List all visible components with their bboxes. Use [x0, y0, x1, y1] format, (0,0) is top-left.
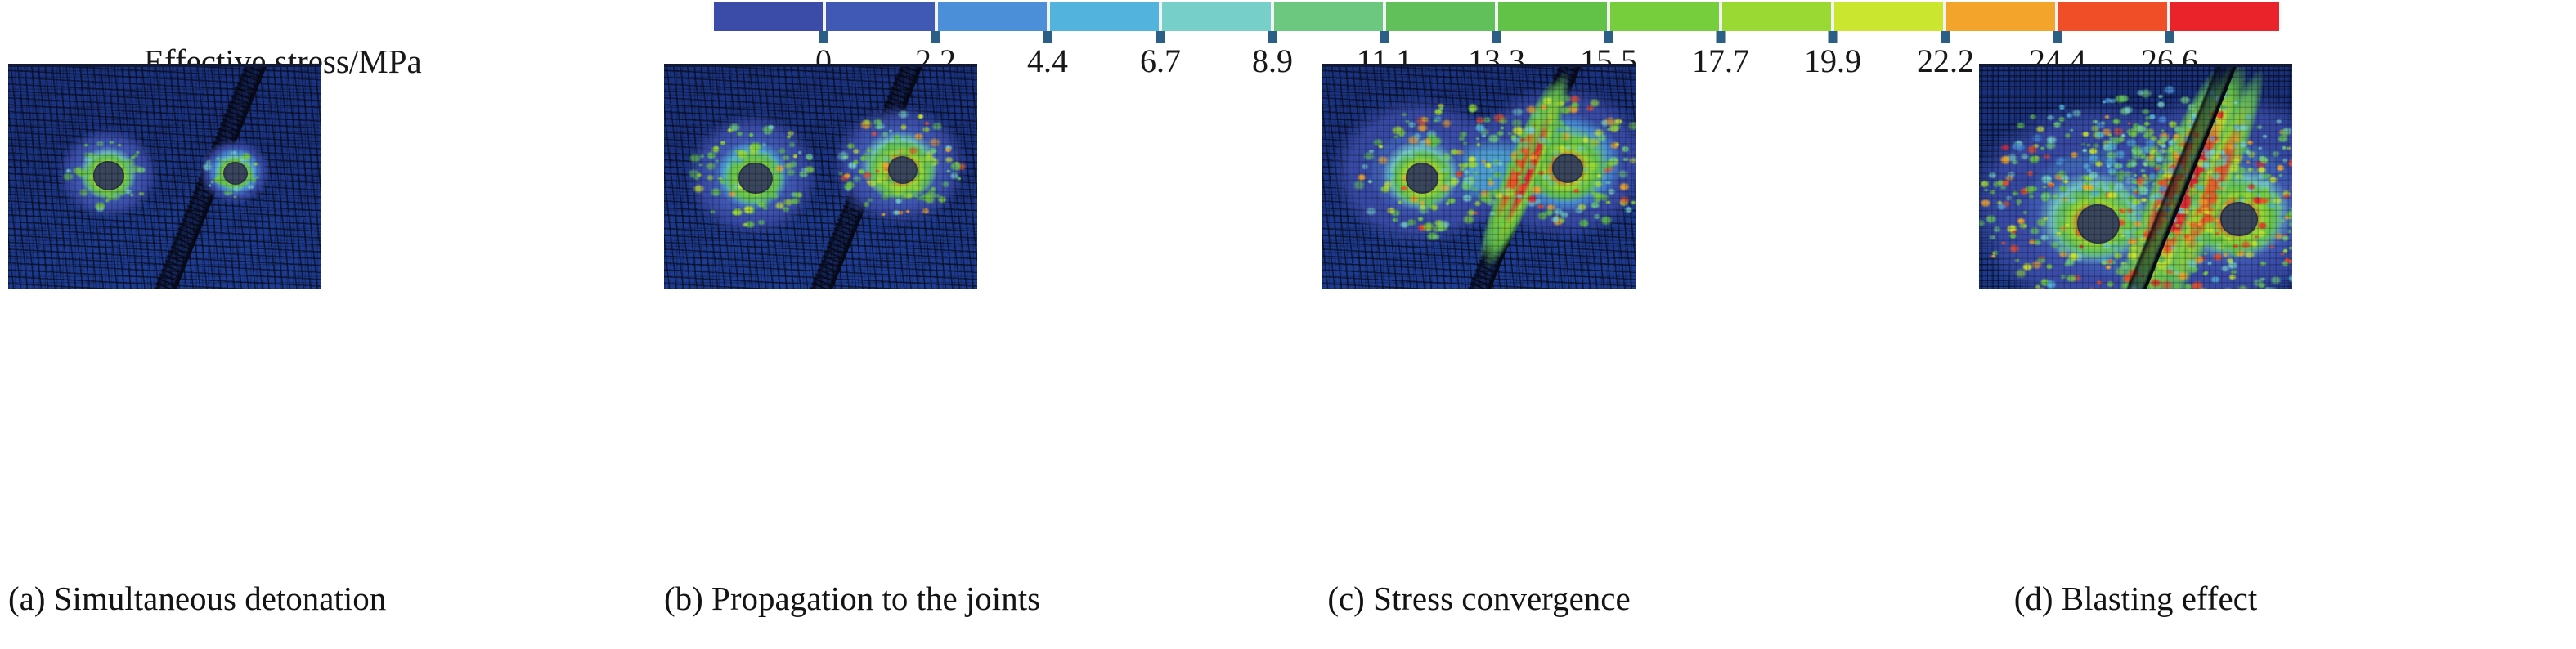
figure-root: Effective stress/MPa 02.24.46.78.911.113…: [0, 0, 2576, 649]
panel-d-blasting-effect: [1979, 64, 2292, 289]
blast-hole: [740, 164, 771, 193]
panel-d-field: [1979, 67, 2292, 289]
panel-c-field: [1322, 67, 1636, 289]
colorbar-tick-label-10: 22.2: [1917, 41, 1974, 82]
colorbar-swatch-3: [1048, 2, 1160, 31]
panel-a-simultaneous-detonation: [8, 64, 321, 289]
panel-b-caption: (b) Propagation to the joints: [664, 574, 977, 623]
colorbar-tick-label-2: 4.4: [1027, 41, 1068, 82]
blast-hole: [1554, 155, 1582, 181]
mesh-grid: [664, 64, 977, 289]
panel-b-field: [664, 67, 977, 289]
blast-hole: [890, 158, 916, 181]
colorbar-swatch-4: [1160, 2, 1272, 31]
colorbar-swatch-12: [2057, 2, 2169, 31]
panel-d-caption: (d) Blasting effect: [1979, 574, 2292, 623]
colorbar-tick-label-9: 19.9: [1804, 41, 1861, 82]
colorbar-swatch-11: [1945, 2, 2057, 31]
blast-hole: [1407, 164, 1437, 191]
blast-hole: [2079, 206, 2118, 242]
colorbar-tick-label-8: 17.7: [1692, 41, 1749, 82]
blast-hole: [225, 163, 246, 183]
panel-a-caption: (a) Simultaneous detonation: [8, 574, 321, 623]
colorbar-swatch-8: [1609, 2, 1721, 31]
colorbar-swatch-9: [1721, 2, 1833, 31]
colorbar-swatch-6: [1384, 2, 1497, 31]
mesh-grid: [8, 64, 321, 289]
blast-hole: [95, 163, 123, 188]
colorbar-tick-label-3: 6.7: [1140, 41, 1181, 82]
panel-c-stress-convergence: [1322, 64, 1636, 289]
mesh-grid: [1979, 64, 2292, 289]
colorbar-swatch-1: [824, 2, 936, 31]
colorbar-swatch-0: [711, 2, 824, 31]
colorbar-legend: Effective stress/MPa 02.24.46.78.911.113…: [0, 0, 2576, 64]
colorbar-swatch-5: [1272, 2, 1384, 31]
blast-hole: [2222, 204, 2256, 235]
colorbar-swatch-13: [2169, 2, 2282, 31]
colorbar-swatch-7: [1497, 2, 1609, 31]
panel-c-caption: (c) Stress convergence: [1322, 574, 1636, 623]
colorbar-swatch-10: [1833, 2, 1945, 31]
colorbar-tick-label-4: 8.9: [1252, 41, 1293, 82]
colorbar-swatch-2: [936, 2, 1048, 31]
mesh-grid: [1322, 64, 1636, 289]
panel-a-field: [8, 67, 321, 289]
colorbar-gradient: [711, 2, 2282, 31]
panel-b-propagation-to-joints: [664, 64, 977, 289]
